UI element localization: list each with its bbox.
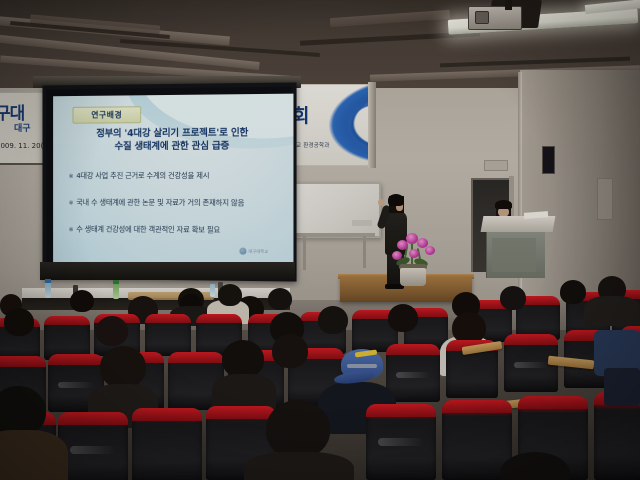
seat-rim [58, 412, 128, 425]
slide-bullet-item: ※국내 수 생태계에 관한 논문 및 자료가 거의 존재하지 않음 [69, 198, 289, 209]
banner-left: 구대 대구 2009. 11. 20(금) [0, 92, 48, 165]
screen-bottom-bar [40, 262, 295, 280]
slide-university-logo: 대구대학교 [239, 246, 286, 258]
audience-shoulders [0, 430, 68, 480]
cap-band [347, 364, 377, 368]
orchid-bloom [409, 249, 419, 258]
seat-rim [206, 406, 276, 419]
seat-rim [386, 344, 440, 355]
seat-highlight [70, 446, 116, 454]
bottle-cap [45, 279, 51, 283]
seat-rim [0, 356, 46, 367]
slide-title-line1: 정부의 '4대강 살리기 프로젝트'로 인한 [59, 126, 287, 140]
audience-head [4, 308, 34, 336]
audience-shoulders [244, 452, 354, 480]
slide-bullet-item: ※수 생태계 건강성에 대한 객관적인 자료 확보 필요 [69, 224, 289, 235]
slide-bullet-text: 국내 수 생태계에 관한 논문 및 자료가 거의 존재하지 않음 [76, 198, 244, 207]
bottle-cap [113, 280, 119, 284]
slide-bullet-list: ※4대강 사업 추진 근거로 수계의 건강성을 제시 ※국내 수 생태계에 관한… [69, 171, 289, 253]
audience-head [70, 290, 94, 312]
projection-screen: 연구배경 정부의 '4대강 살리기 프로젝트'로 인한 수질 생태계에 관한 관… [42, 82, 296, 281]
bullet-mark-icon: ※ [69, 173, 74, 180]
orchid-bloom [425, 246, 435, 255]
seat-rim [145, 314, 191, 323]
whiteboard-leg [303, 236, 306, 270]
audience-head [268, 288, 292, 310]
slide-bullet-text: 4대강 사업 추진 근거로 수계의 건강성을 제시 [76, 171, 209, 180]
wall-plate [484, 160, 508, 171]
seat-rim [44, 316, 90, 325]
audience-head [388, 304, 418, 332]
banner-left-mid-text: 대구 [14, 121, 31, 134]
audience-head [222, 340, 264, 378]
whiteboard-smudge [352, 220, 372, 226]
water-bottle [113, 283, 119, 299]
projector-arm [505, 0, 512, 10]
seat-rim [442, 400, 512, 413]
audience-head [266, 400, 330, 458]
banner-post [368, 82, 376, 168]
lectern-panel [492, 238, 536, 272]
seat-highlight [396, 372, 430, 378]
slide-bullet-item: ※4대강 사업 추진 근거로 수계의 건강성을 제시 [69, 171, 289, 181]
audience-head [318, 306, 348, 334]
screen-inner-border: 연구배경 정부의 '4대강 살리기 프로젝트'로 인한 수질 생태계에 관한 관… [46, 87, 292, 270]
whiteboard-leg [363, 236, 366, 268]
bullet-mark-icon: ※ [69, 200, 74, 207]
whiteboard [291, 182, 381, 238]
seat-rim [168, 352, 224, 363]
seat-highlight [514, 362, 548, 368]
audience-head [560, 280, 586, 304]
person-at-lectern-hair [495, 200, 512, 209]
presentation-slide: 연구배경 정부의 '4대강 살리기 프로젝트'로 인한 수질 생태계에 관한 관… [53, 94, 293, 271]
seat-rim [366, 404, 436, 417]
seat-highlight [378, 438, 424, 446]
wall-panel [597, 178, 613, 220]
seat-rim [504, 334, 558, 345]
slide-logo-text: 대구대학교 [249, 248, 269, 254]
audience-head [272, 334, 308, 368]
seat-rim [196, 314, 242, 323]
water-bottle [45, 282, 51, 298]
audience-shoulders [584, 296, 640, 326]
lecture-hall-photo: 구대 대구 2009. 11. 20(금) 발표회 표회 대구대학교 환경공학과… [0, 0, 640, 480]
audience-head [96, 316, 128, 346]
slide-header-label: 연구배경 [91, 109, 122, 120]
projector-lens-icon [475, 11, 489, 24]
presenter-hand [378, 199, 384, 206]
seat-rim [48, 354, 104, 365]
audience-head [500, 286, 526, 310]
water-bottle [210, 284, 215, 297]
slide-title-line2: 수질 생태계에 관한 관심 급증 [59, 139, 287, 153]
bullet-mark-icon: ※ [69, 226, 74, 233]
lectern-top [481, 216, 556, 232]
banner-left-date: 2009. 11. 20(금) [0, 141, 48, 151]
seat-highlight [58, 382, 94, 388]
wall-speaker-icon [542, 146, 555, 174]
logo-mark-icon [239, 248, 246, 255]
slide-bullet-text: 수 생태계 건강성에 대한 객관적인 자료 확보 필요 [76, 225, 220, 235]
presenter-hair [388, 194, 404, 206]
slide-header-box: 연구배경 [73, 106, 142, 123]
slide-title: 정부의 '4대강 살리기 프로젝트'로 인한 수질 생태계에 관한 관심 급증 [59, 126, 287, 153]
seat-rim [132, 408, 202, 421]
plant-pot [400, 268, 426, 286]
audience-clothing [604, 368, 640, 406]
audience-head [100, 346, 146, 388]
audience-head [218, 284, 242, 306]
seat-rim [518, 396, 588, 409]
